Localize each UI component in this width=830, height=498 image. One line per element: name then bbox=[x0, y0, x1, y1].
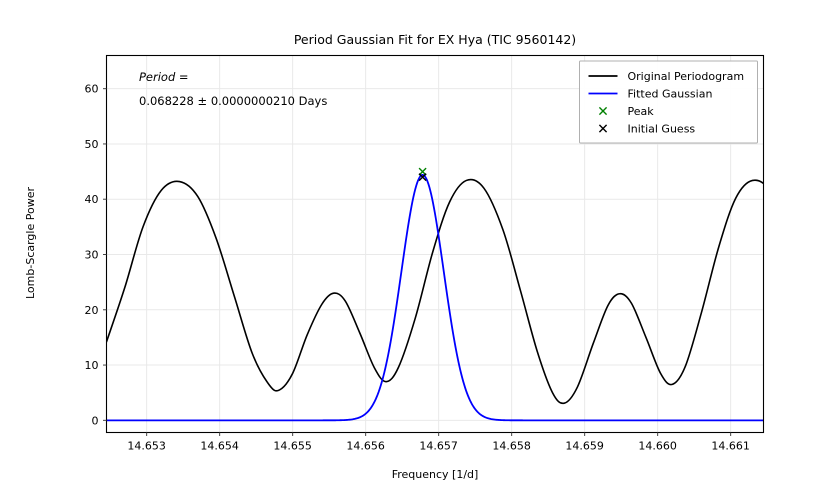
x-tick-label-0: 14.653 bbox=[127, 440, 166, 453]
legend-label: Fitted Gaussian bbox=[628, 88, 713, 101]
figure-container: Period Gaussian Fit for EX Hya (TIC 9560… bbox=[0, 0, 830, 498]
y-tick-label-0: 0 bbox=[92, 414, 99, 427]
periodogram-chart: Period Gaussian Fit for EX Hya (TIC 9560… bbox=[0, 0, 830, 498]
legend-label: Peak bbox=[628, 105, 655, 118]
x-tick-label-4: 14.657 bbox=[419, 440, 458, 453]
x-tick-label-7: 14.660 bbox=[638, 440, 677, 453]
annotation-period-value: 0.068228 ± 0.0000000210 Days bbox=[139, 94, 327, 108]
x-tick-label-1: 14.654 bbox=[200, 440, 239, 453]
y-tick-label-6: 60 bbox=[85, 83, 99, 96]
page-title: Period Gaussian Fit for EX Hya (TIC 9560… bbox=[294, 32, 576, 47]
y-tick-label-2: 20 bbox=[85, 304, 99, 317]
annotation-period-label: Period = bbox=[139, 70, 189, 84]
x-tick-label-2: 14.655 bbox=[273, 440, 312, 453]
y-axis-label: Lomb-Scargle Power bbox=[24, 187, 37, 299]
x-tick-label-3: 14.656 bbox=[346, 440, 385, 453]
x-tick-label-5: 14.658 bbox=[492, 440, 531, 453]
y-tick-label-5: 50 bbox=[85, 138, 99, 151]
chart-legend[interactable]: Original PeriodogramFitted GaussianPeakI… bbox=[580, 61, 758, 143]
legend-label: Original Periodogram bbox=[628, 70, 745, 83]
y-tick-label-4: 40 bbox=[85, 193, 99, 206]
x-tick-label-6: 14.659 bbox=[565, 440, 604, 453]
legend-label: Initial Guess bbox=[628, 123, 696, 136]
y-tick-label-1: 10 bbox=[85, 359, 99, 372]
x-tick-label-8: 14.661 bbox=[711, 440, 750, 453]
x-axis-label: Frequency [1/d] bbox=[392, 468, 479, 481]
y-tick-label-3: 30 bbox=[85, 249, 99, 262]
